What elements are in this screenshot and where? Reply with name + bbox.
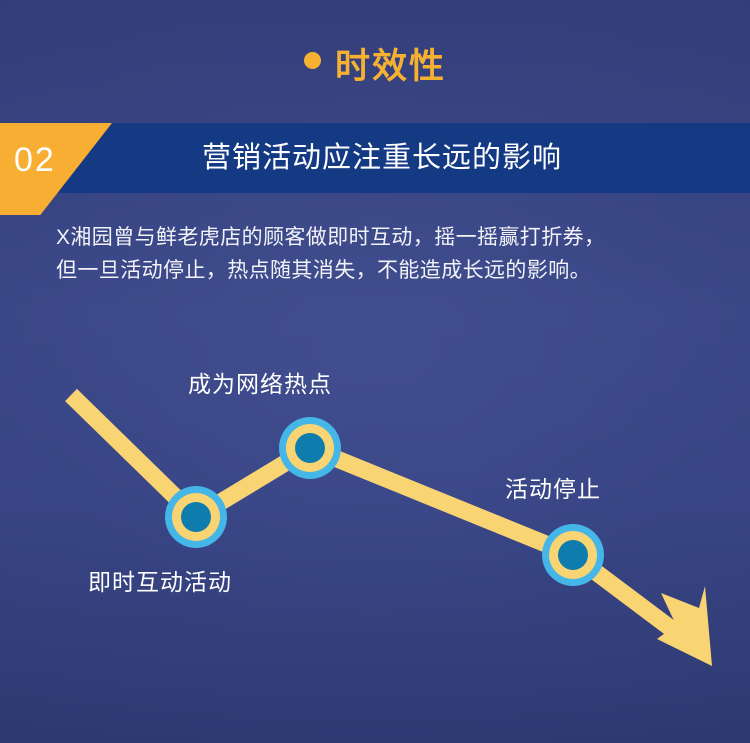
slide-canvas: 时效性 营销活动应注重长远的影响 02 X湘园曾与鲜老虎店的顾客做即时互动，摇一… <box>0 0 750 743</box>
chart-label-start: 即时互动活动 <box>88 563 232 597</box>
chart-label-peak: 成为网络热点 <box>188 365 332 399</box>
trend-line <box>71 395 681 636</box>
data-point-marker-2 <box>279 417 341 479</box>
data-point-marker-1 <box>165 486 227 548</box>
data-point-marker-3 <box>542 524 604 586</box>
section-number-label: 02 <box>14 141 56 180</box>
chart-label-stop: 活动停止 <box>505 470 601 504</box>
trend-chart: 成为网络热点 即时互动活动 活动停止 <box>0 0 750 743</box>
trend-chart-svg <box>0 0 750 743</box>
